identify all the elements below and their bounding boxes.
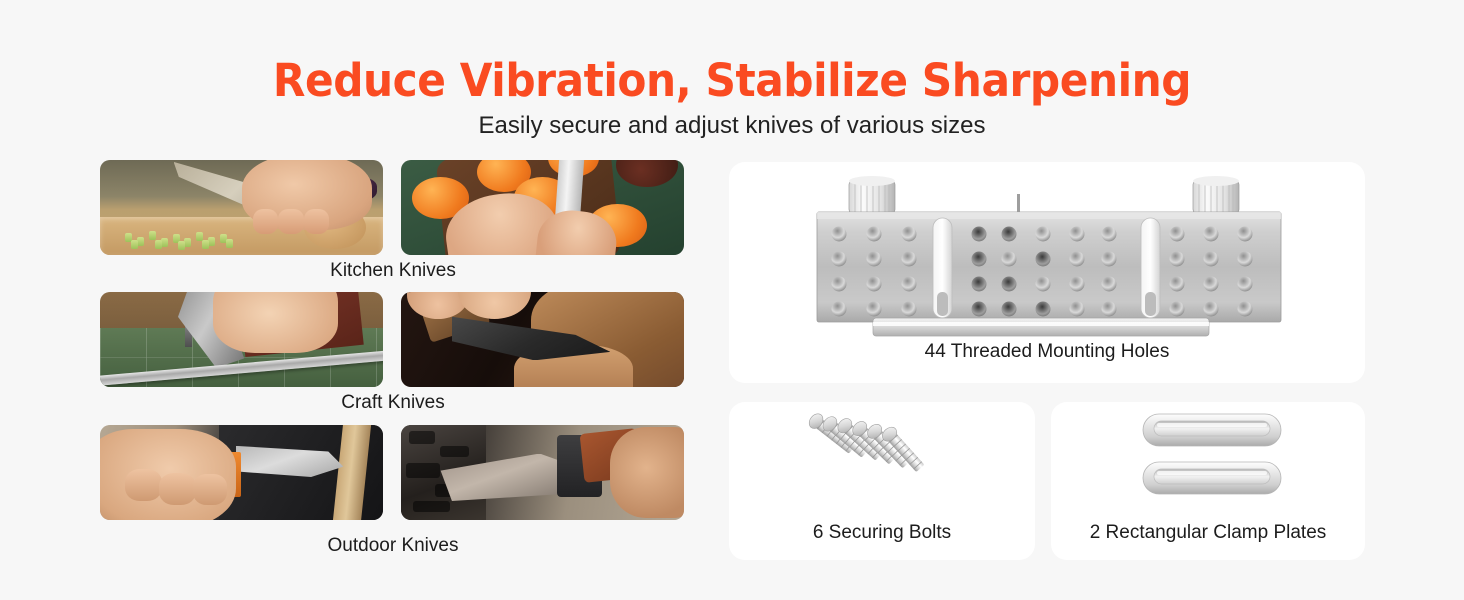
feature-caption-securing-bolts: 6 Securing Bolts (729, 522, 1035, 544)
use-case-row-craft (100, 292, 686, 387)
photo-kitchen-chopping-celery (100, 160, 383, 255)
page-title: Reduce Vibration, Stabilize Sharpening (44, 54, 1420, 107)
feature-card-mounting-holes: 44 Threaded Mounting Holes (729, 162, 1365, 383)
feature-caption-mounting-holes: 44 Threaded Mounting Holes (729, 341, 1365, 363)
thumb-screw-right (1193, 176, 1239, 214)
use-case-gallery: Kitchen Knives (100, 160, 686, 560)
clamp-plate (1143, 462, 1281, 494)
thumb-screw-left (849, 176, 895, 214)
page-subtitle: Easily secure and adjust knives of vario… (0, 112, 1464, 140)
use-case-row-outdoor (100, 425, 686, 520)
infographic-page: Reduce Vibration, Stabilize Sharpening E… (0, 0, 1464, 600)
use-case-label-outdoor: Outdoor Knives (100, 535, 686, 557)
securing-bolts-image (795, 412, 970, 512)
feature-card-securing-bolts: 6 Securing Bolts (729, 402, 1035, 560)
feature-caption-clamp-plates: 2 Rectangular Clamp Plates (1051, 522, 1365, 544)
photo-kitchen-slicing-apricots (401, 160, 684, 255)
center-pin (1017, 194, 1020, 212)
use-case-label-craft: Craft Knives (100, 392, 686, 414)
photo-outdoor-folding-knife (401, 425, 684, 520)
feature-card-clamp-plates: 2 Rectangular Clamp Plates (1051, 402, 1365, 560)
photo-craft-wood-carving (401, 292, 684, 387)
use-case-row-kitchen (100, 160, 686, 255)
sharpening-vise-plate-image (789, 170, 1309, 345)
base-rail (873, 318, 1209, 336)
photo-craft-leather-cutting (100, 292, 383, 387)
mounted-clamp-plate-left (933, 218, 952, 318)
clamp-plate (1143, 414, 1281, 446)
use-case-label-kitchen: Kitchen Knives (100, 260, 686, 282)
rectangular-clamp-plates-image (1137, 408, 1287, 508)
photo-outdoor-bushcraft-knife (100, 425, 383, 520)
mounted-clamp-plate-right (1141, 218, 1160, 318)
